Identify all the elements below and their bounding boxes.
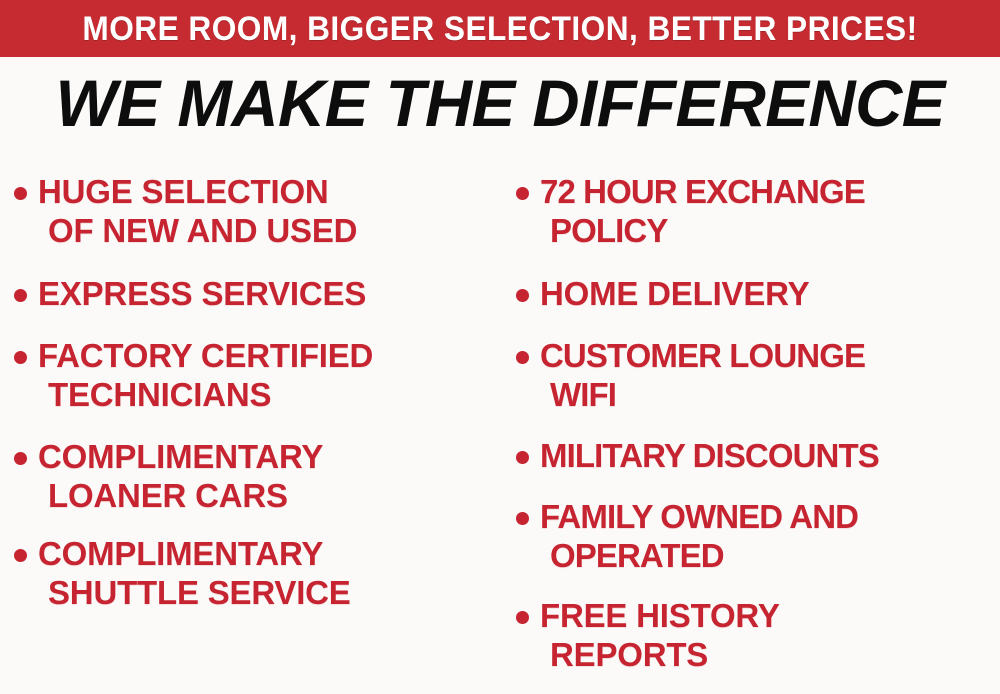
bullet-dot-icon: [516, 187, 529, 200]
list-item-label: EXPRESS SERVICES: [38, 274, 366, 313]
list-item-label: FACTORY CERTIFIEDTECHNICIANS: [38, 336, 373, 414]
bullet-dot-icon: [516, 512, 529, 525]
page-title: WE MAKE THE DIFFERENCE: [55, 68, 944, 138]
headline-container: WE MAKE THE DIFFERENCE: [0, 68, 1000, 138]
banner-headline: MORE ROOM, BIGGER SELECTION, BETTER PRIC…: [82, 12, 917, 46]
list-item-label: CUSTOMER LOUNGEWIFI: [540, 336, 865, 414]
list-item: CUSTOMER LOUNGEWIFI: [516, 336, 865, 414]
bullet-dot-icon: [14, 187, 27, 200]
list-item-label: COMPLIMENTARYSHUTTLE SERVICE: [38, 534, 351, 612]
list-item: FREE HISTORYREPORTS: [516, 596, 780, 674]
bullet-dot-icon: [14, 452, 27, 465]
list-item-label: 72 HOUR EXCHANGEPOLICY: [540, 172, 865, 250]
list-item-label: HUGE SELECTIONOF NEW AND USED: [38, 172, 357, 250]
list-item: COMPLIMENTARYLOANER CARS: [14, 437, 323, 515]
bullet-dot-icon: [516, 289, 529, 302]
list-item: MILITARY DISCOUNTS: [516, 436, 879, 475]
list-item: HUGE SELECTIONOF NEW AND USED: [14, 172, 357, 250]
list-item-label: FAMILY OWNED ANDOPERATED: [540, 497, 858, 575]
list-item: FAMILY OWNED ANDOPERATED: [516, 497, 858, 575]
list-item: FACTORY CERTIFIEDTECHNICIANS: [14, 336, 373, 414]
list-item: 72 HOUR EXCHANGEPOLICY: [516, 172, 865, 250]
list-item-label: HOME DELIVERY: [540, 274, 809, 313]
bullet-dot-icon: [516, 451, 529, 464]
list-item-label: FREE HISTORYREPORTS: [540, 596, 780, 674]
top-banner: MORE ROOM, BIGGER SELECTION, BETTER PRIC…: [0, 0, 1000, 57]
bullet-dot-icon: [14, 289, 27, 302]
bullet-dot-icon: [14, 549, 27, 562]
list-item: HOME DELIVERY: [516, 274, 809, 313]
bullet-dot-icon: [516, 351, 529, 364]
benefits-column-right: 72 HOUR EXCHANGEPOLICY HOME DELIVERY CUS…: [516, 160, 1000, 694]
list-item: COMPLIMENTARYSHUTTLE SERVICE: [14, 534, 351, 612]
list-item-label: COMPLIMENTARYLOANER CARS: [38, 437, 323, 515]
bullet-dot-icon: [14, 351, 27, 364]
list-item-label: MILITARY DISCOUNTS: [540, 436, 879, 475]
promotional-poster: MORE ROOM, BIGGER SELECTION, BETTER PRIC…: [0, 0, 1000, 694]
bullet-dot-icon: [516, 611, 529, 624]
benefits-column-left: HUGE SELECTIONOF NEW AND USED EXPRESS SE…: [14, 160, 504, 694]
list-item: EXPRESS SERVICES: [14, 274, 366, 313]
benefits-columns: HUGE SELECTIONOF NEW AND USED EXPRESS SE…: [0, 160, 1000, 694]
